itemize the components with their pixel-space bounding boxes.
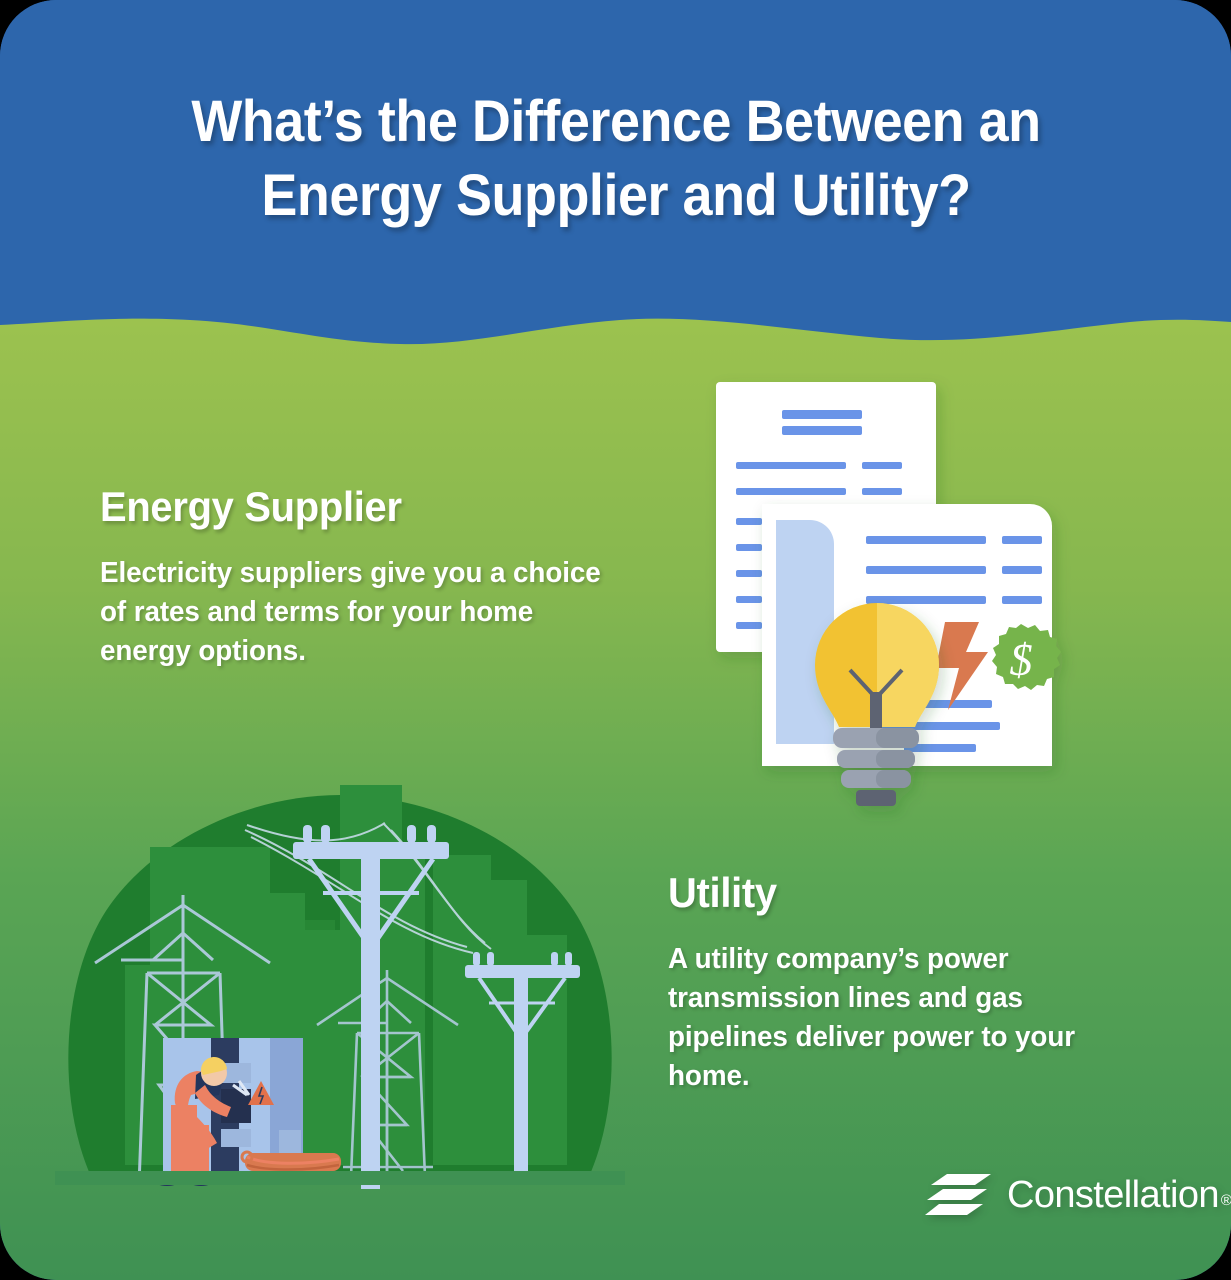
constellation-logo[interactable]: Constellation®	[925, 1172, 1231, 1218]
dollar-symbol: $	[1010, 634, 1033, 685]
constellation-mark-icon	[925, 1172, 993, 1218]
power-grid-illustration	[55, 785, 625, 1185]
utility-body: A utility company’s power transmission l…	[668, 940, 1119, 1097]
infographic-card: What’s the Difference Between an Energy …	[0, 0, 1231, 1280]
wordmark-text: Constellation	[1007, 1174, 1219, 1216]
ground-line	[55, 1171, 625, 1185]
energy-bill-documents-illustration: $	[690, 370, 1110, 820]
cable-coil	[242, 1152, 341, 1171]
constellation-wordmark: Constellation®	[1007, 1174, 1231, 1217]
energy-supplier-body: Electricity suppliers give you a choice …	[100, 554, 609, 671]
utility-section: Utility A utility company’s power transm…	[668, 872, 1138, 1097]
registered-mark: ®	[1221, 1192, 1231, 1209]
utility-heading: Utility	[668, 872, 1115, 914]
energy-supplier-heading: Energy Supplier	[100, 486, 604, 528]
lightbulb-icon	[815, 603, 939, 806]
page-title: What’s the Difference Between an Energy …	[146, 85, 1085, 233]
header: What’s the Difference Between an Energy …	[0, 0, 1231, 318]
energy-supplier-section: Energy Supplier Electricity suppliers gi…	[100, 486, 630, 671]
